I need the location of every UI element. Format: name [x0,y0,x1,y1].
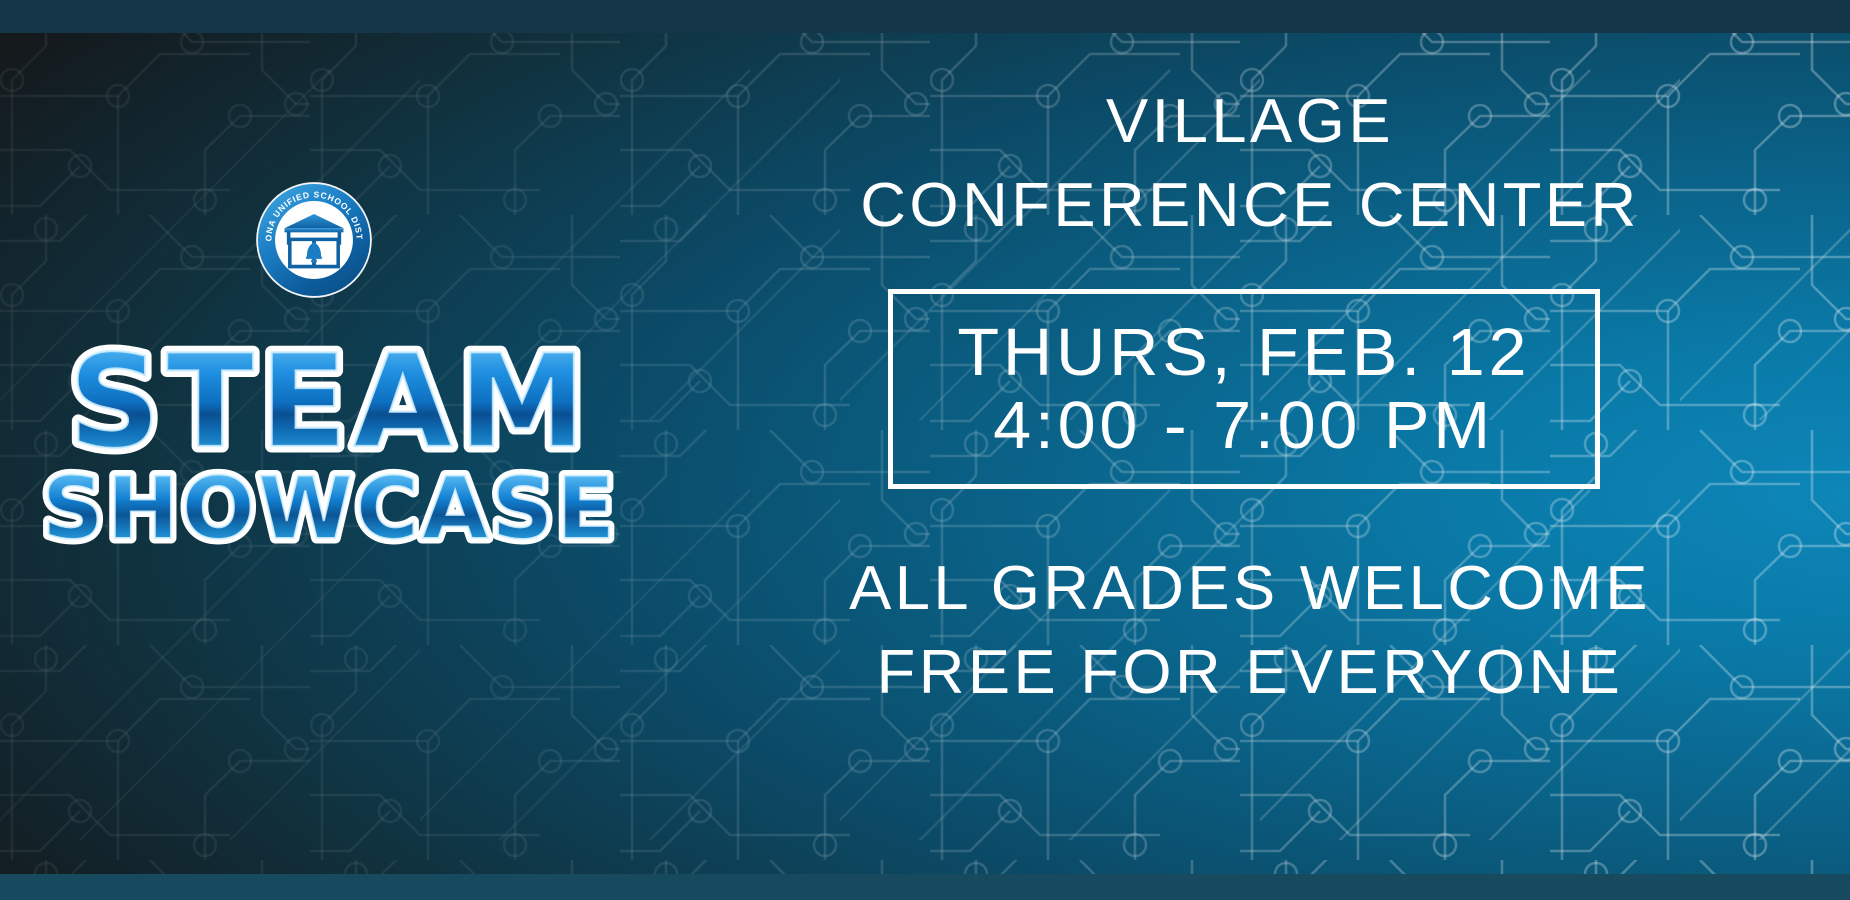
event-time: 4:00 - 7:00 PM [994,392,1495,459]
svg-text:SHOWCASE: SHOWCASE [42,459,618,559]
event-info-column: VILLAGE CONFERENCE CENTER THURS, FEB. 12… [650,33,1850,878]
wordmark-steam: STEAM STEAM STEAM [68,328,591,477]
pusd-seal-logo: POMONA UNIFIED SCHOOL DISTRICT WWW.PUSD.… [255,181,373,299]
steam-showcase-wordmark: STEAM STEAM STEAM SHOWCASE SHOWCASE SHOW… [0,328,660,578]
welcome-block: ALL GRADES WELCOME FREE FOR EVERYONE [650,558,1850,704]
brand-column: POMONA UNIFIED SCHOOL DISTRICT WWW.PUSD.… [0,33,660,878]
wordmark-showcase: SHOWCASE SHOWCASE SHOWCASE [42,459,618,559]
svg-text:STEAM: STEAM [68,328,591,477]
venue-line-1: VILLAGE [638,91,1850,153]
venue-line-2: CONFERENCE CENTER [638,175,1850,237]
welcome-line-1: ALL GRADES WELCOME [638,558,1850,620]
steam-showcase-banner: POMONA UNIFIED SCHOOL DISTRICT WWW.PUSD.… [0,0,1850,900]
top-bar [0,0,1850,33]
date-time-box: THURS, FEB. 12 4:00 - 7:00 PM [888,289,1600,489]
venue-block: VILLAGE CONFERENCE CENTER [650,91,1850,237]
welcome-line-2: FREE FOR EVERYONE [638,642,1850,704]
event-date: THURS, FEB. 12 [958,319,1531,386]
